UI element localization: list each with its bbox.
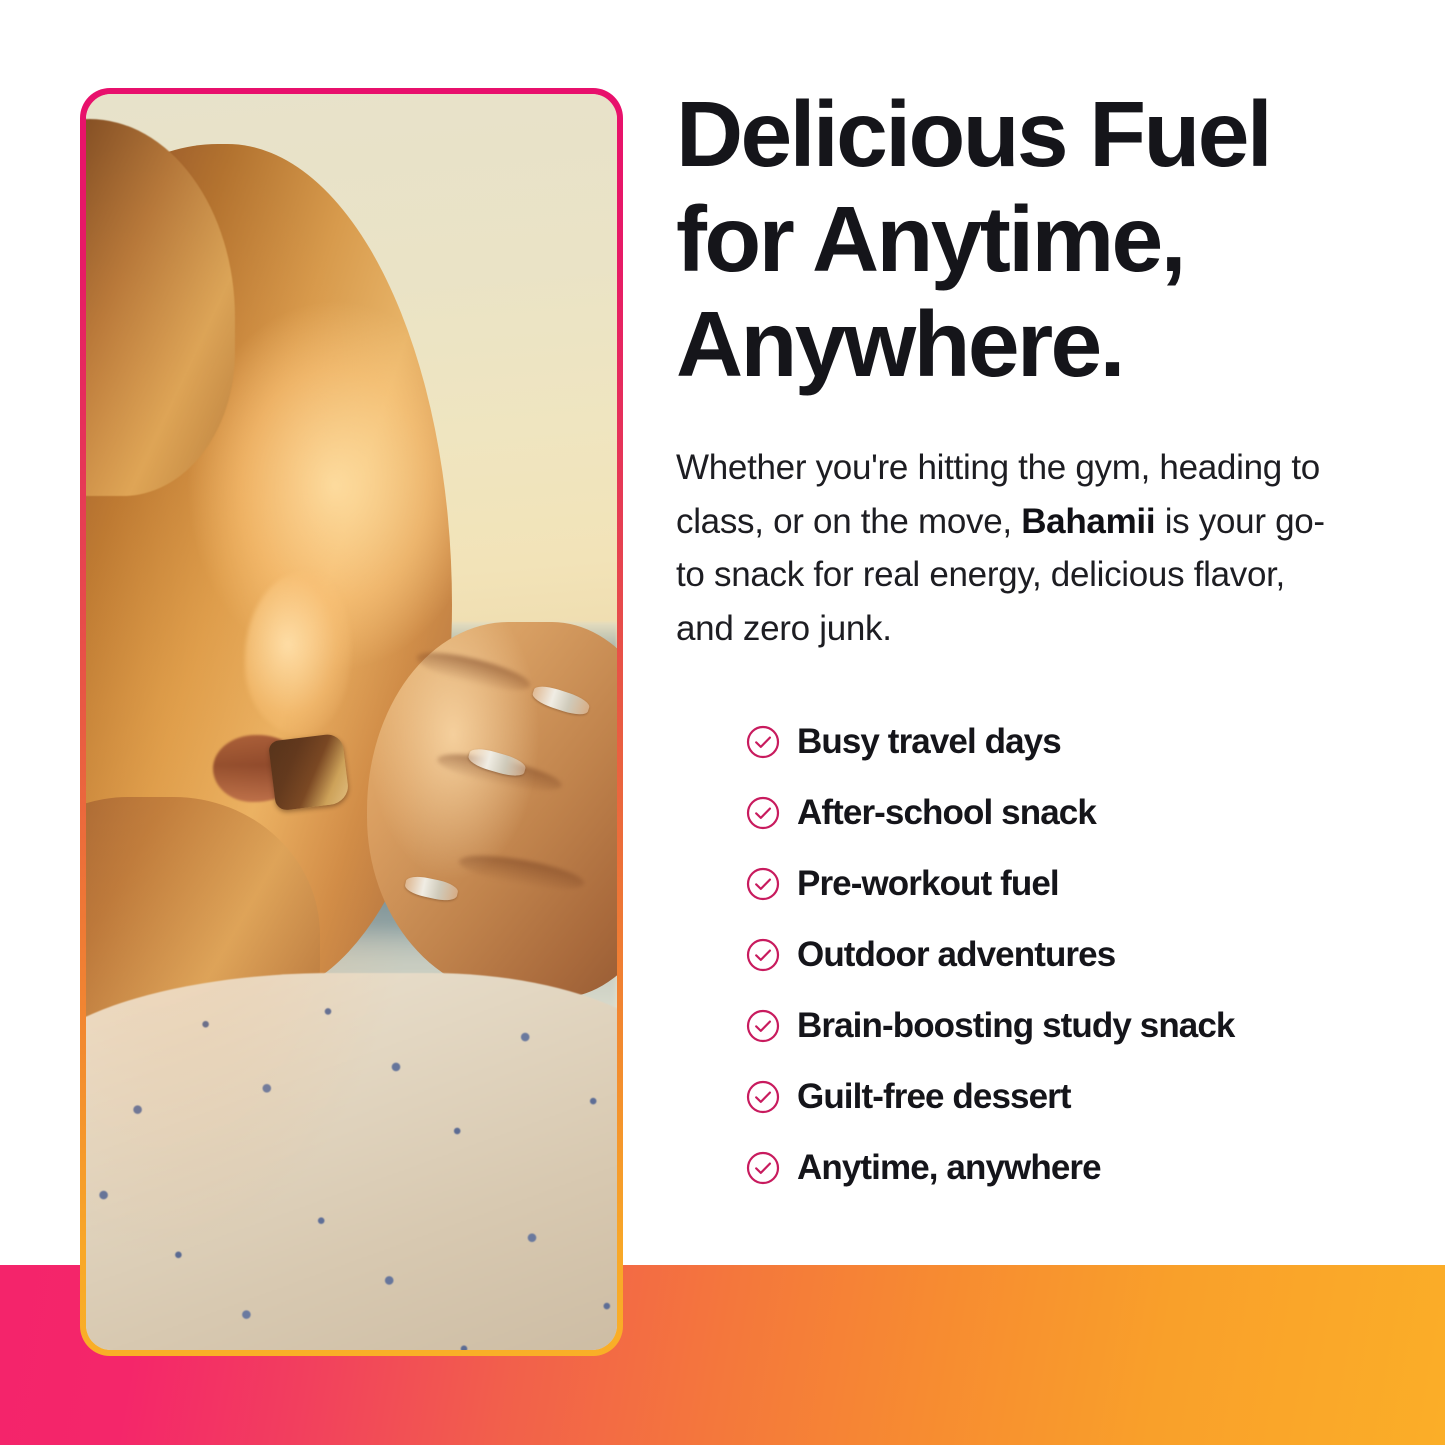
subcopy-paragraph: Whether you're hitting the gym, heading … xyxy=(676,441,1336,655)
check-circle-icon xyxy=(745,1008,781,1044)
check-circle-icon xyxy=(745,937,781,973)
list-item: Anytime, anywhere xyxy=(745,1132,1405,1203)
benefit-label: Outdoor adventures xyxy=(797,935,1115,975)
hero-photo xyxy=(86,94,617,1350)
photo-floral-top xyxy=(86,973,617,1350)
photo-snack-bar xyxy=(268,733,350,812)
brand-name: Bahamii xyxy=(1021,502,1155,541)
list-item: Pre-workout fuel xyxy=(745,848,1405,919)
copy-column: Delicious Fuel for Anytime, Anywhere. Wh… xyxy=(676,82,1396,655)
benefit-label: Pre-workout fuel xyxy=(797,864,1059,904)
list-item: Guilt-free dessert xyxy=(745,1061,1405,1132)
benefit-label: Brain-boosting study snack xyxy=(797,1006,1235,1046)
list-item: Outdoor adventures xyxy=(745,919,1405,990)
benefit-label: Anytime, anywhere xyxy=(797,1148,1101,1188)
promo-poster: Delicious Fuel for Anytime, Anywhere. Wh… xyxy=(0,0,1445,1445)
benefits-list: Busy travel days After-school snack Pre-… xyxy=(745,706,1405,1203)
hero-photo-frame xyxy=(80,88,623,1356)
list-item: After-school snack xyxy=(745,777,1405,848)
list-item: Brain-boosting study snack xyxy=(745,990,1405,1061)
check-circle-icon xyxy=(745,866,781,902)
check-circle-icon xyxy=(745,724,781,760)
page-title: Delicious Fuel for Anytime, Anywhere. xyxy=(676,82,1396,397)
list-item: Busy travel days xyxy=(745,706,1405,777)
benefit-label: Busy travel days xyxy=(797,722,1061,762)
benefit-label: After-school snack xyxy=(797,793,1096,833)
check-circle-icon xyxy=(745,1150,781,1186)
check-circle-icon xyxy=(745,795,781,831)
check-circle-icon xyxy=(745,1079,781,1115)
benefit-label: Guilt-free dessert xyxy=(797,1077,1071,1117)
